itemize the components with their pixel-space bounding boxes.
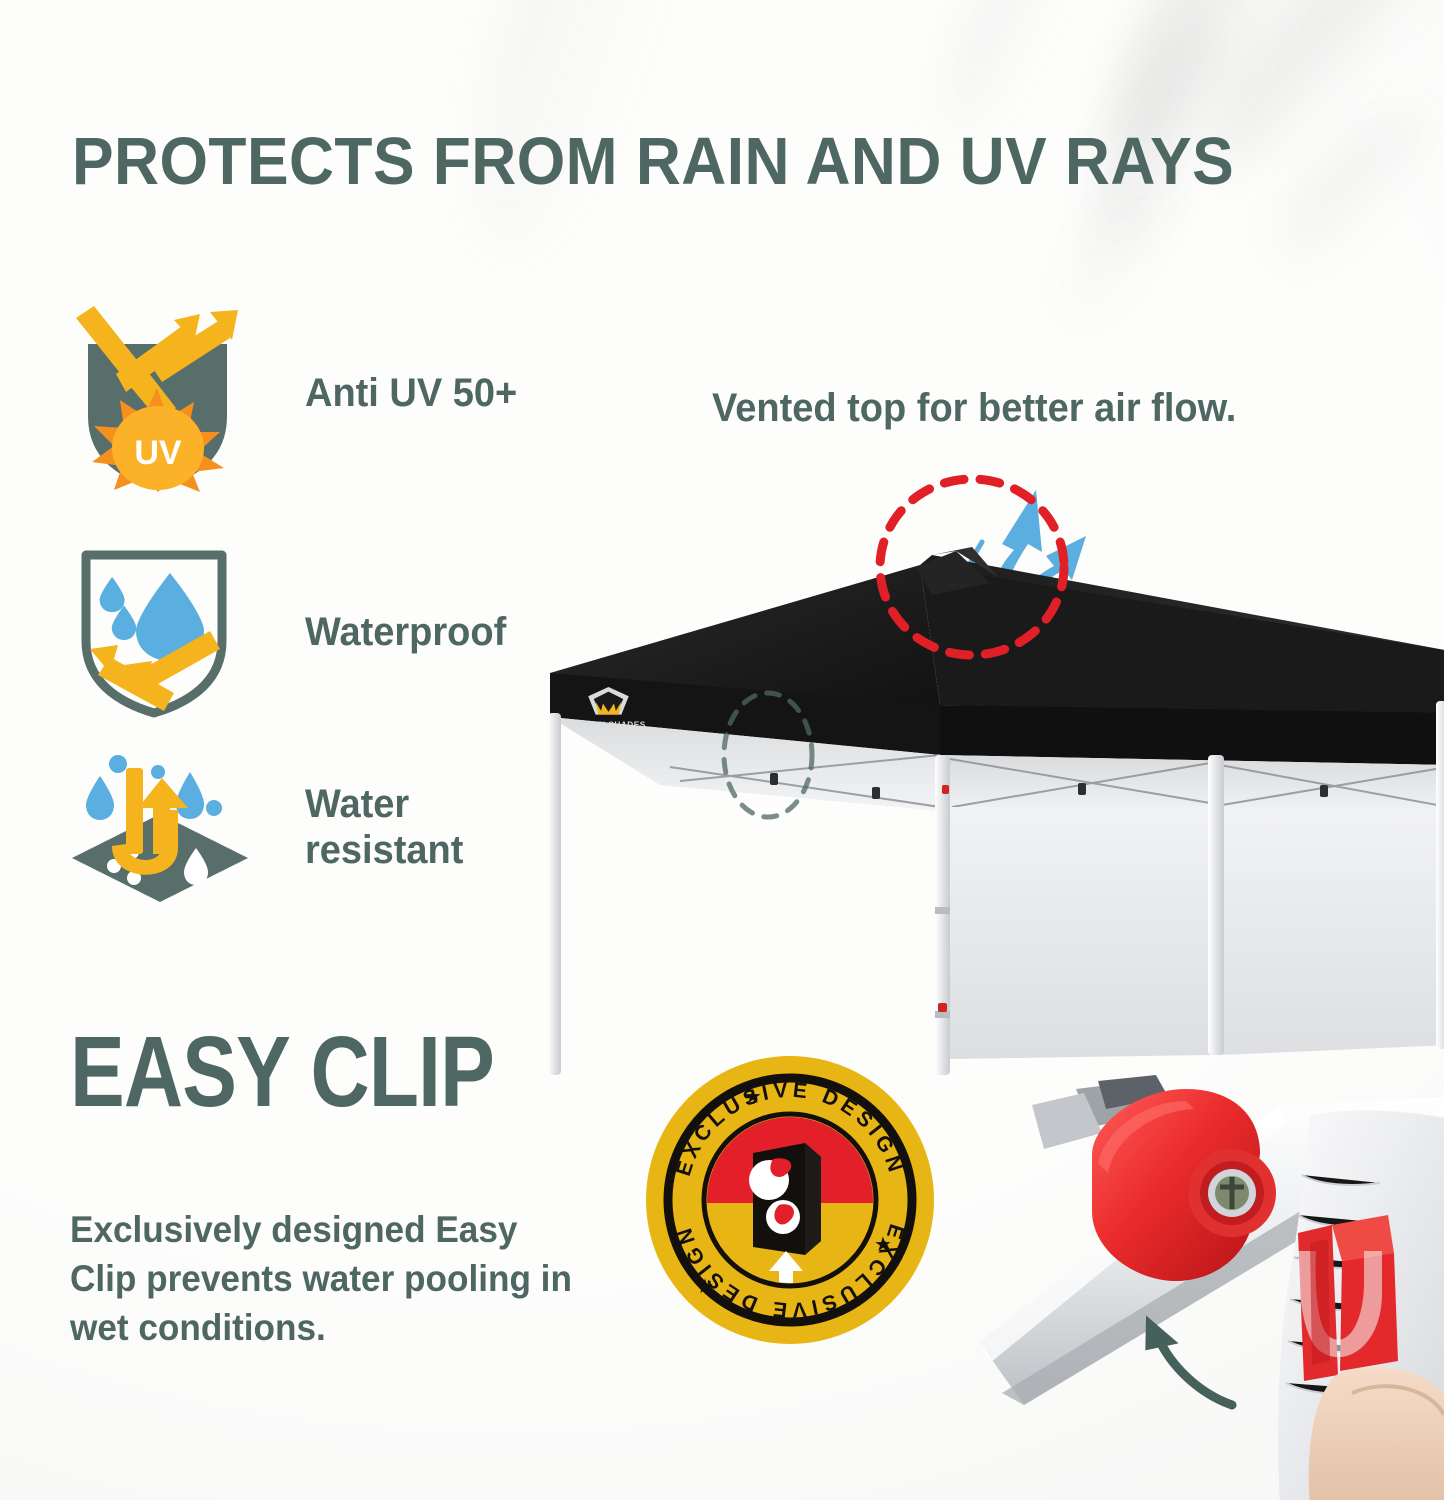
- svg-text:★: ★: [744, 1086, 762, 1108]
- feature-row-water-resistant: Water resistant: [70, 752, 472, 902]
- feature-row-waterproof: Waterproof: [70, 545, 517, 720]
- callout-vented-top: Vented top for better air flow.: [712, 386, 1236, 431]
- page-title: PROTECTS FROM RAIN AND UV RAYS: [72, 128, 1234, 195]
- easy-clip-hardware-illustration: [980, 1075, 1444, 1500]
- water-resistant-surface-icon: [70, 752, 245, 902]
- uv-shield-icon: UV: [70, 296, 245, 491]
- rotate-arrow-icon: [1138, 1310, 1232, 1405]
- exclusive-design-badge: EXCLUSIVE DESIGN EXCLUSIVE DESIGN ★ ★ ★: [645, 1055, 935, 1345]
- uv-badge-text: UV: [134, 434, 182, 472]
- feature-row-anti-uv: UV Anti UV 50+: [70, 296, 528, 491]
- feature-label-waterproof: Waterproof: [305, 609, 506, 655]
- canopy-product-illustration: CROWN SHADES: [520, 455, 1444, 1075]
- svg-text:★: ★: [696, 1276, 714, 1298]
- section-title-easy-clip: EASY CLIP: [70, 1022, 494, 1122]
- easy-clip-description: Exclusively designed Easy Clip prevents …: [70, 1205, 583, 1353]
- waterproof-shield-icon: [70, 545, 245, 720]
- feature-label-anti-uv: Anti UV 50+: [305, 370, 517, 416]
- svg-text:★: ★: [874, 1234, 892, 1256]
- feature-label-water-resistant: Water resistant: [305, 781, 463, 874]
- red-u-hook-icon: [1298, 1215, 1398, 1381]
- marketing-infographic: PROTECTS FROM RAIN AND UV RAYS UV: [0, 0, 1444, 1500]
